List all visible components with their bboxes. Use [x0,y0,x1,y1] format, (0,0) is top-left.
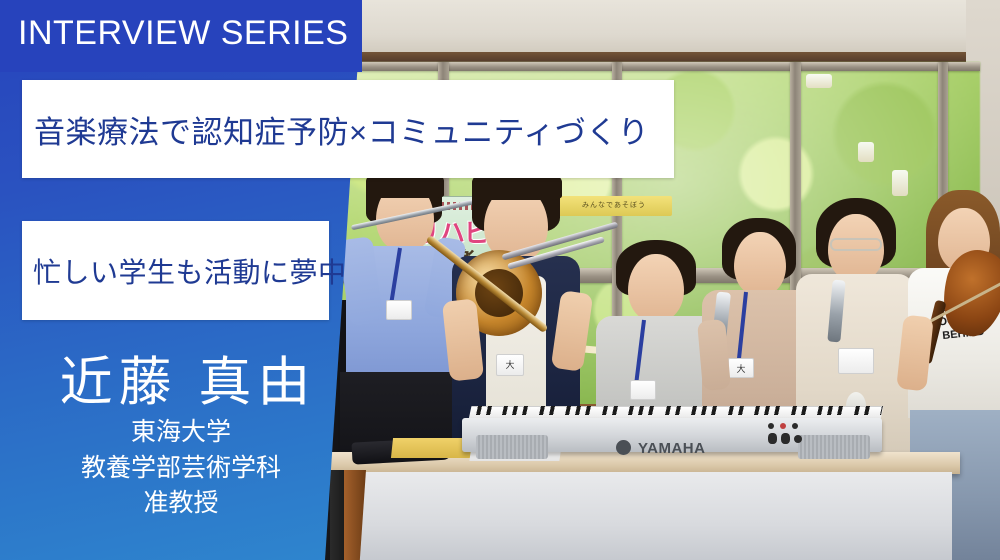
window-frame-top [300,62,980,71]
head [628,254,684,322]
interview-series-banner: リハビリ 楽 音楽療法で心と体を元気に みんなであそぼう [0,0,1000,560]
keyboard-body: YAMAHA [462,418,882,452]
keyboard-button [768,423,774,429]
wall-sign: みんなであそぼう [556,196,672,216]
keyboard-button [792,423,798,429]
keyboard-speaker-right [798,435,870,459]
glasses-icon [830,238,882,251]
affiliation: 東海大学 教養学部芸術学科 准教授 [36,415,326,522]
keyboard-brand-label: YAMAHA [638,440,705,457]
hanging-ornament [806,74,832,88]
affiliation-line-3: 准教授 [36,486,326,522]
keyboard-knob [794,435,802,443]
affiliation-line-2: 教養学部芸術学科 [36,451,326,487]
title-band: 音楽療法で認知症予防×コミュニティづくり [22,80,674,178]
keyboard-black-keys [469,406,883,415]
name-badge: 大 [728,358,754,378]
person-name: 近藤 真由 [48,340,328,416]
hanging-ornament [858,142,874,162]
title-text: 音楽療法で認知症予防×コミュニティづくり [22,107,649,152]
tshirt-print: 大 [496,354,524,376]
yamaha-keyboard: YAMAHA [462,406,882,460]
keyboard-button [780,423,786,429]
subtitle-band: 忙しい学生も活動に夢中 [22,221,329,320]
pocket-badge [838,348,874,374]
keyboard-knob [781,433,790,444]
affiliation-line-1: 東海大学 [36,415,326,451]
head [734,232,786,296]
yamaha-logo-icon [616,440,631,455]
name-badge [386,300,412,320]
keyboard-knob [768,433,777,444]
hanging-ornament [892,170,908,196]
subtitle-text: 忙しい学生も活動に夢中 [22,251,347,291]
name-badge [630,380,656,400]
arm-left [697,319,731,391]
series-label: INTERVIEW SERIES [18,14,348,53]
ceiling [300,0,1000,58]
table-body [352,472,952,560]
keyboard-speaker-left [476,435,548,459]
